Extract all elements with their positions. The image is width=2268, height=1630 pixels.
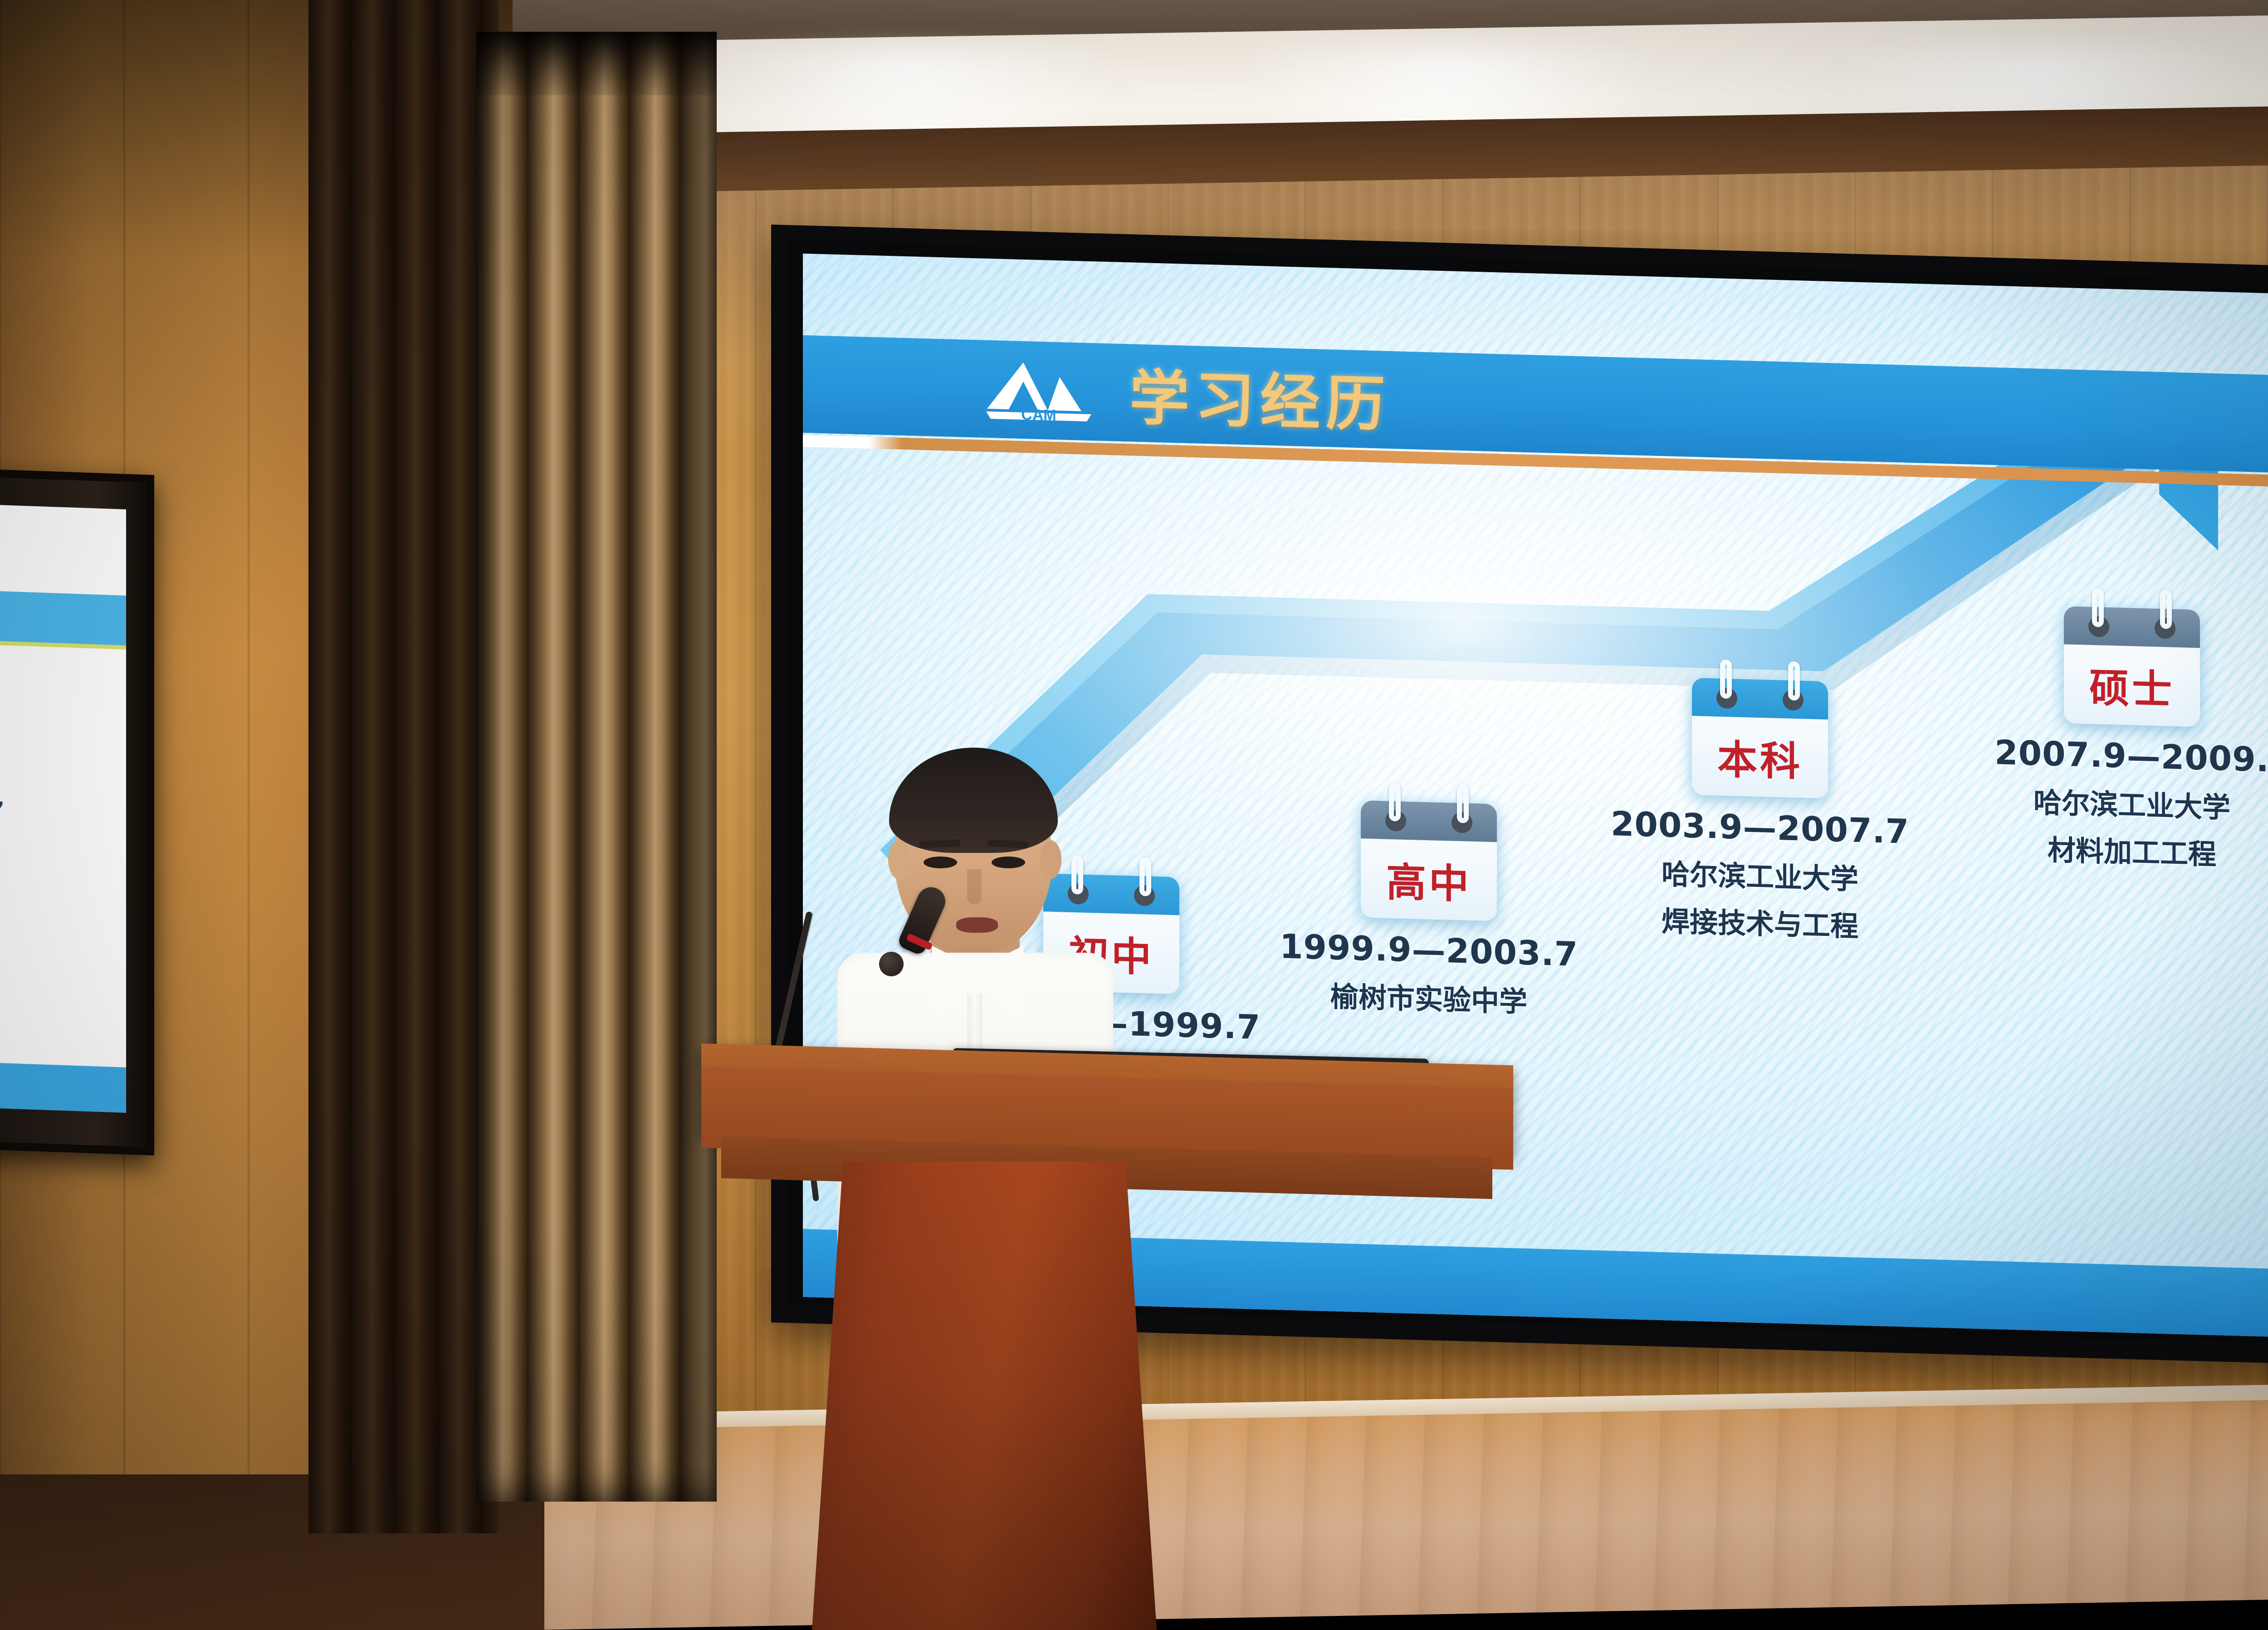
confidence-monitor-screen: 3.7 学 <box>0 504 126 1113</box>
presenter-hair <box>889 748 1058 853</box>
stage-curtain <box>476 32 717 1502</box>
timeline-stage-label: 本科 <box>1692 727 1828 788</box>
curtain-shadowed-section <box>308 0 499 1533</box>
monitor-text-fragment-school: 学 <box>0 839 79 873</box>
timeline-date-range: 2007.9—2009. <box>1950 732 2268 781</box>
calendar-icon: 硕士 <box>2064 587 2200 727</box>
stage-floor <box>481 1397 2268 1630</box>
presenter-ear <box>888 840 910 879</box>
svg-text:CAM: CAM <box>1021 406 1056 424</box>
monitor-slide-footer-band <box>0 1062 126 1113</box>
calendar-icon: 本科 <box>1692 659 1828 798</box>
presenter-eye <box>992 857 1025 868</box>
monitor-text-fragment-date: 3.7 <box>0 794 81 830</box>
timeline-institution: 哈尔滨工业大学 <box>1950 777 2268 828</box>
slide-title: 学习经历 <box>1129 349 1391 443</box>
timeline-item: 高中 1999.9—2003.7 榆树市实验中学 <box>1256 778 1601 1022</box>
timeline-item: 硕士 2007.9—2009. 哈尔滨工业大学 材料加工工程 <box>1950 584 2268 875</box>
conference-hall-scene: 3.7 学 <box>0 0 2268 1630</box>
timeline-item: 本科 2003.9—2007.7 哈尔滨工业大学 焊接技术与工程 <box>1583 656 1937 946</box>
timeline-institution: 哈尔滨工业大学 <box>1583 849 1937 899</box>
presenter-ear <box>1040 840 1061 879</box>
mountain-cam-logo: CAM <box>980 355 1098 426</box>
confidence-monitor: 3.7 学 <box>0 469 154 1155</box>
lectern-column <box>812 1161 1157 1630</box>
monitor-slide-header-band <box>0 591 126 646</box>
timeline-stage-label: 高中 <box>1361 849 1497 910</box>
presenter-eye <box>924 857 957 868</box>
timeline-date-range: 1999.9—2003.7 <box>1256 926 1601 975</box>
timeline-stage-label: 硕士 <box>2064 655 2200 716</box>
timeline-date-range: 2003.9—2007.7 <box>1583 803 1937 852</box>
calendar-icon: 高中 <box>1361 781 1497 921</box>
microphone-joint <box>879 952 904 976</box>
presenter-nose <box>967 869 982 905</box>
curtain-rod-shadow <box>476 32 717 95</box>
presenter-mouth <box>956 917 998 933</box>
